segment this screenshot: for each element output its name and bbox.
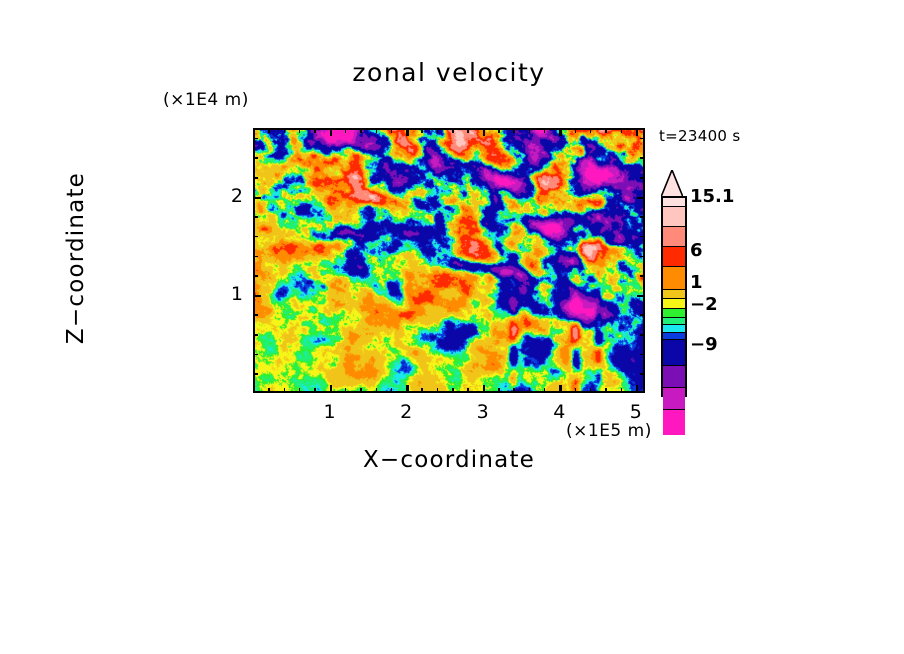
- x-axis-title: X−coordinate: [253, 447, 645, 473]
- tick-mark: [467, 388, 469, 393]
- tick-mark: [636, 385, 639, 393]
- tick-mark: [513, 388, 515, 393]
- tick-mark: [640, 334, 645, 336]
- colorbar-band: [663, 387, 685, 409]
- tick-mark: [330, 128, 333, 136]
- tick-mark: [640, 314, 645, 316]
- tick-mark: [284, 128, 286, 133]
- tick-mark: [529, 128, 531, 133]
- colorbar-tick-label: 15.1: [690, 186, 734, 207]
- colorbar-band: [663, 246, 685, 266]
- tick-mark: [640, 177, 645, 179]
- tick-mark: [360, 388, 362, 393]
- tick-mark: [253, 314, 258, 316]
- colorbar-band: [663, 324, 685, 332]
- tick-mark: [483, 128, 486, 136]
- colorbar-band: [663, 308, 685, 317]
- tick-mark: [253, 236, 258, 238]
- y-tick-label: 1: [213, 283, 243, 305]
- tick-mark: [467, 128, 469, 133]
- colorbar-band: [663, 409, 685, 435]
- tick-mark: [590, 388, 592, 393]
- tick-mark: [621, 388, 623, 393]
- tick-mark: [452, 128, 454, 133]
- y-axis-title: Z−coordinate: [63, 128, 89, 388]
- colorbar-band: [663, 198, 685, 206]
- tick-mark: [253, 373, 258, 375]
- tick-mark: [640, 236, 645, 238]
- tick-mark: [483, 385, 486, 393]
- tick-mark: [559, 385, 562, 393]
- colorbar-max-arrow: [661, 170, 683, 197]
- colorbar-tick-label: −2: [690, 294, 718, 315]
- tick-mark: [640, 256, 645, 258]
- tick-mark: [391, 388, 393, 393]
- x-tick-label: 2: [391, 401, 421, 423]
- x-axis-unit-label: (×1E5 m): [566, 421, 652, 441]
- x-tick-label: 1: [315, 401, 345, 423]
- tick-mark: [268, 128, 270, 133]
- colorbar: [661, 196, 687, 397]
- page-title: zonal velocity: [253, 58, 645, 87]
- tick-mark: [605, 128, 607, 133]
- tick-mark: [253, 138, 258, 140]
- tick-mark: [284, 388, 286, 393]
- y-axis-unit-label: (×1E4 m): [163, 90, 249, 110]
- tick-mark: [330, 385, 333, 393]
- colorbar-band: [663, 226, 685, 246]
- time-annotation: t=23400 s: [659, 127, 740, 145]
- colorbar-tick-label: 6: [690, 240, 703, 261]
- colorbar-band: [663, 266, 685, 289]
- tick-mark: [437, 128, 439, 133]
- tick-mark: [452, 388, 454, 393]
- colorbar-band: [663, 206, 685, 226]
- x-tick-label: 3: [468, 401, 498, 423]
- tick-mark: [640, 216, 645, 218]
- tick-mark: [637, 295, 645, 298]
- tick-mark: [376, 388, 378, 393]
- tick-mark: [544, 128, 546, 133]
- tick-mark: [575, 388, 577, 393]
- tick-mark: [513, 128, 515, 133]
- tick-mark: [498, 388, 500, 393]
- zonal-velocity-field: [255, 130, 643, 391]
- tick-mark: [376, 128, 378, 133]
- tick-mark: [253, 295, 261, 298]
- tick-mark: [575, 128, 577, 133]
- tick-mark: [299, 388, 301, 393]
- tick-mark: [360, 128, 362, 133]
- tick-mark: [299, 128, 301, 133]
- tick-mark: [391, 128, 393, 133]
- tick-mark: [590, 128, 592, 133]
- tick-mark: [640, 373, 645, 375]
- colorbar-tick-label: −9: [690, 334, 718, 355]
- tick-mark: [621, 128, 623, 133]
- contour-plot-area: [253, 128, 645, 393]
- y-tick-label: 2: [213, 185, 243, 207]
- tick-mark: [314, 128, 316, 133]
- colorbar-band: [663, 317, 685, 324]
- tick-mark: [345, 388, 347, 393]
- x-tick-label: 4: [544, 401, 574, 423]
- tick-mark: [421, 128, 423, 133]
- tick-mark: [253, 216, 258, 218]
- colorbar-band: [663, 365, 685, 387]
- tick-mark: [268, 388, 270, 393]
- tick-mark: [253, 157, 258, 159]
- tick-mark: [253, 334, 258, 336]
- tick-mark: [637, 197, 645, 200]
- colorbar-band: [663, 339, 685, 365]
- tick-mark: [253, 177, 258, 179]
- figure-canvas: zonal velocity (×1E4 m) t=23400 s 123451…: [0, 0, 904, 654]
- tick-mark: [406, 128, 409, 136]
- tick-mark: [406, 385, 409, 393]
- colorbar-band: [663, 332, 685, 339]
- tick-mark: [605, 388, 607, 393]
- tick-mark: [314, 388, 316, 393]
- x-tick-label: 5: [621, 401, 651, 423]
- colorbar-tick-label: 1: [690, 272, 703, 293]
- tick-mark: [640, 275, 645, 277]
- colorbar-band: [663, 298, 685, 308]
- tick-mark: [437, 388, 439, 393]
- tick-mark: [640, 157, 645, 159]
- tick-mark: [345, 128, 347, 133]
- tick-mark: [640, 354, 645, 356]
- tick-mark: [421, 388, 423, 393]
- tick-mark: [253, 197, 261, 200]
- colorbar-band: [663, 289, 685, 298]
- tick-mark: [640, 138, 645, 140]
- tick-mark: [253, 275, 258, 277]
- tick-mark: [498, 128, 500, 133]
- tick-mark: [253, 256, 258, 258]
- tick-mark: [253, 354, 258, 356]
- tick-mark: [636, 128, 639, 136]
- tick-mark: [559, 128, 562, 136]
- tick-mark: [529, 388, 531, 393]
- tick-mark: [544, 388, 546, 393]
